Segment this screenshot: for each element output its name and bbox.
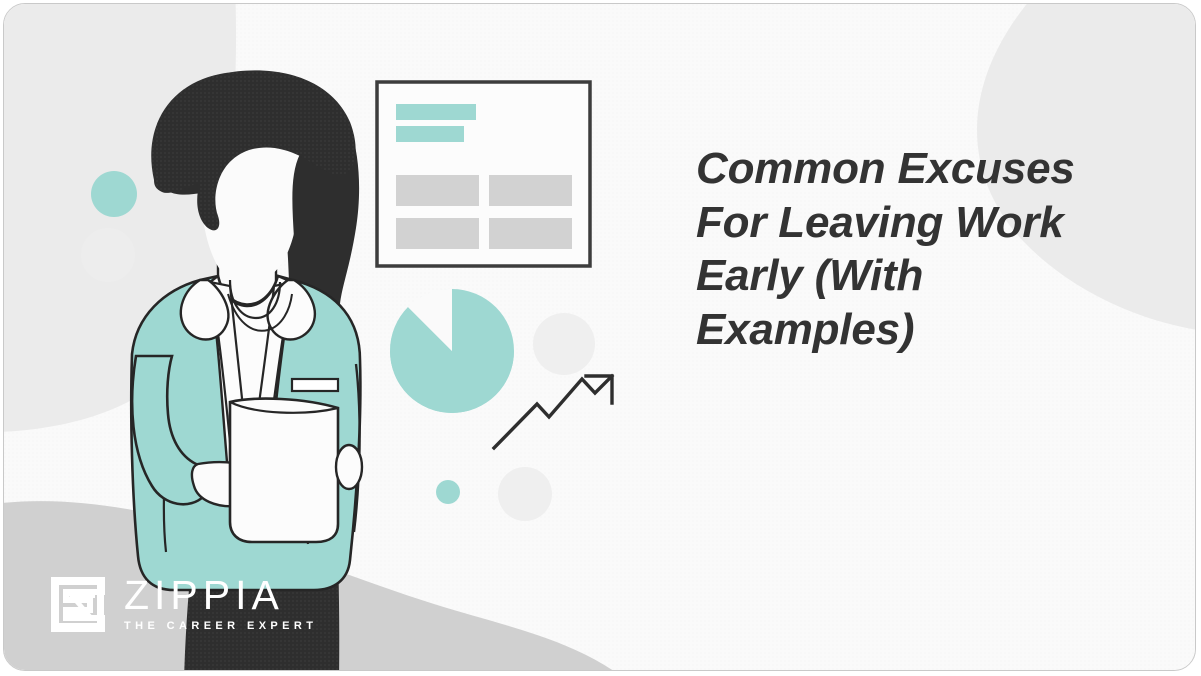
blazer-name-badge-icon [292,379,338,391]
zippia-z-mark-icon [50,576,106,632]
zippia-logo-text: ZIPPIA THE CAREER EXPERT [124,576,317,632]
held-document-icon [230,399,338,542]
board-teal-bar-1 [396,104,476,120]
board-gray-bar-3 [396,218,479,249]
zippia-wordmark: ZIPPIA [124,576,317,615]
decor-teal-circle-bottom [436,480,460,504]
board-gray-bar-2 [489,175,572,206]
hero-image-canvas: Common Excuses For Leaving Work Early (W… [0,0,1201,676]
board-teal-bar-2 [396,126,464,142]
presentation-board [377,82,590,266]
figure-button-right [336,445,362,489]
pie-chart-icon [390,289,514,413]
board-gray-bar-1 [396,175,479,206]
upward-trend-arrow-icon [494,376,612,448]
zippia-logo[interactable]: ZIPPIA THE CAREER EXPERT [50,576,317,632]
decor-teal-circle-left [91,171,137,217]
decor-gray-circle-bottom [498,467,552,521]
hero-card: Common Excuses For Leaving Work Early (W… [3,3,1196,671]
zippia-tagline: THE CAREER EXPERT [124,620,317,632]
decor-gray-circle-mid [533,313,595,375]
board-gray-bar-4 [489,218,572,249]
page-title: Common Excuses For Leaving Work Early (W… [696,142,1166,357]
decor-gray-circle-left [81,228,135,282]
